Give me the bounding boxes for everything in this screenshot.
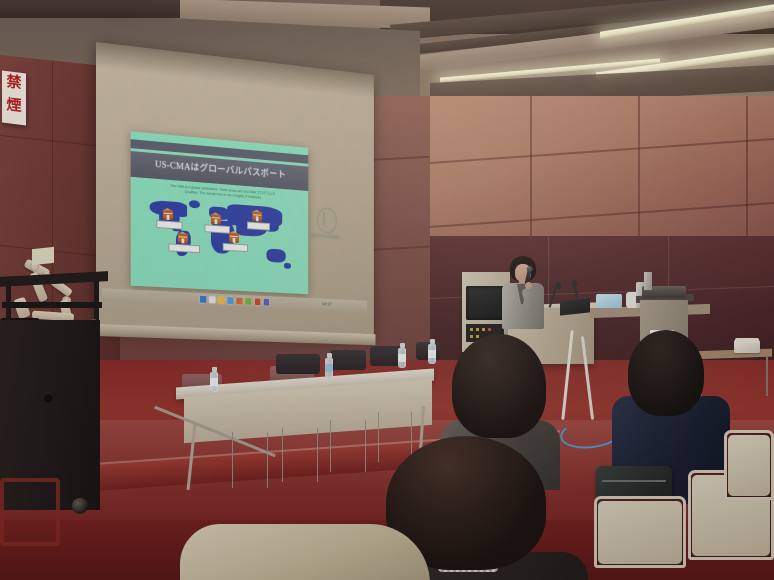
sign-char-2: 煙 (4, 97, 24, 114)
water-bottle-4[interactable] (428, 338, 436, 364)
red-equipment-frame (0, 478, 60, 546)
media-icon[interactable] (246, 298, 252, 304)
auditorium-chair-3[interactable] (724, 430, 774, 500)
right-cart-canister (644, 272, 652, 290)
cart-caster (72, 498, 88, 514)
head (452, 334, 546, 438)
presentation-room-photo: 禁 煙 US-CMAはグローバルパスポート The CMA is a globa… (0, 0, 774, 580)
audience-member-right (612, 330, 732, 480)
start-icon[interactable] (200, 296, 206, 303)
presenter-hand (525, 282, 532, 289)
teams-icon[interactable] (264, 299, 270, 305)
projection-screen: US-CMAはグローバルパスポート The CMA is a global ce… (96, 42, 374, 347)
desk-microphone-2-head (572, 280, 577, 287)
chair-legs-3 (330, 420, 366, 472)
chair-behind-4[interactable] (330, 350, 366, 370)
desk-telephone[interactable] (734, 340, 760, 353)
chair-legs-1 (232, 432, 268, 488)
sign-char-1: 禁 (4, 74, 24, 91)
explorer-icon[interactable] (218, 297, 224, 304)
no-smoking-sign: 禁 煙 (2, 71, 26, 126)
blue-plastic-item (596, 294, 622, 308)
cart-door-knob[interactable] (44, 394, 53, 403)
world-map-graphic (148, 196, 295, 279)
powerpoint-icon[interactable] (255, 298, 261, 304)
chair-legs-2 (282, 428, 318, 482)
water-bottle-3[interactable] (398, 342, 406, 370)
chair-behind-3[interactable] (276, 354, 320, 374)
av-cart-mid-shelf (2, 302, 102, 308)
presentation-slide: US-CMAはグローバルパスポート The CMA is a global ce… (131, 131, 308, 294)
upper-right-wall-panels (430, 96, 774, 246)
institution-watermark-logo (308, 206, 342, 249)
head (628, 330, 704, 416)
taskbar-clock[interactable]: 14:27 (322, 301, 332, 306)
mail-icon[interactable] (227, 297, 233, 304)
water-bottle-1[interactable] (210, 366, 218, 394)
browser-icon[interactable] (237, 297, 243, 303)
beige-coat-foreground (180, 524, 430, 580)
auditorium-chair-1[interactable] (594, 496, 686, 568)
crt-monitor (466, 286, 504, 320)
presenter (500, 256, 546, 328)
desk-microphone-1-head (556, 282, 561, 289)
search-icon[interactable] (209, 296, 215, 303)
water-bottle-2[interactable] (325, 352, 333, 380)
